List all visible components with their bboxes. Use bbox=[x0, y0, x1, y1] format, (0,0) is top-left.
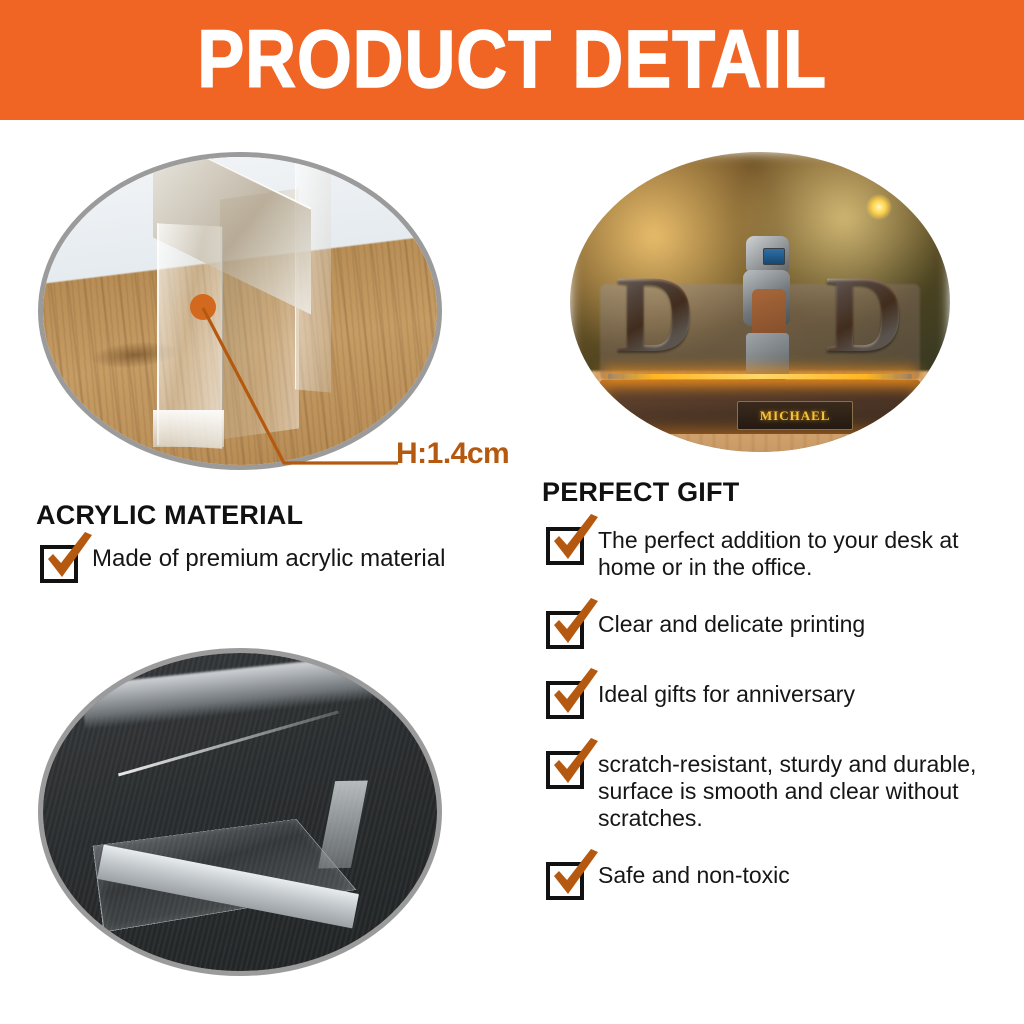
checkbox-checked bbox=[40, 545, 78, 583]
checkmark-icon bbox=[548, 849, 604, 903]
feature-text: Ideal gifts for anniversary bbox=[598, 681, 855, 708]
checkmark-icon bbox=[548, 514, 604, 568]
feature-text: The perfect addition to your desk at hom… bbox=[598, 527, 1006, 581]
photo-acrylic-block-on-slate bbox=[38, 648, 442, 976]
checkmark-icon bbox=[548, 738, 604, 792]
checkbox-checked bbox=[546, 751, 584, 789]
letter-d-right: D bbox=[825, 266, 904, 362]
acrylic-bottom-edge bbox=[153, 410, 224, 447]
feature-item-scratch-resistant: scratch-resistant, sturdy and durable, s… bbox=[546, 751, 1006, 832]
feature-text: scratch-resistant, sturdy and durable, s… bbox=[598, 751, 1006, 832]
checkbox-checked bbox=[546, 862, 584, 900]
product-detail-page: PRODUCT DETAIL H:1.4cm D D bbox=[0, 0, 1024, 1024]
feature-item-desk-addition: The perfect addition to your desk at hom… bbox=[546, 527, 1006, 581]
feature-item-clear-printing: Clear and delicate printing bbox=[546, 611, 1006, 649]
nameplate-text: MICHAEL bbox=[760, 408, 831, 424]
section-heading-perfect-gift: PERFECT GIFT bbox=[542, 477, 739, 508]
thickness-callout-label: H:1.4cm bbox=[396, 437, 509, 471]
photo-acrylic-block-edge bbox=[38, 152, 442, 470]
feature-text: Clear and delicate printing bbox=[598, 611, 865, 638]
welder-figure bbox=[730, 236, 806, 392]
checkmark-icon bbox=[42, 532, 98, 586]
checkbox-checked bbox=[546, 681, 584, 719]
feature-item-anniversary-gift: Ideal gifts for anniversary bbox=[546, 681, 1006, 719]
feature-item-safe-non-toxic: Safe and non-toxic bbox=[546, 862, 1006, 900]
perfect-gift-feature-list: The perfect addition to your desk at hom… bbox=[546, 527, 1006, 900]
letter-d-left: D bbox=[616, 266, 695, 362]
checkbox-checked bbox=[546, 527, 584, 565]
feature-text: Safe and non-toxic bbox=[598, 862, 790, 889]
nameplate: MICHAEL bbox=[737, 401, 853, 430]
welding-spark-icon bbox=[866, 194, 892, 220]
welder-legs bbox=[746, 333, 789, 380]
checkmark-icon bbox=[548, 598, 604, 652]
section-heading-acrylic-material: ACRYLIC MATERIAL bbox=[36, 500, 303, 531]
header-banner: PRODUCT DETAIL bbox=[0, 0, 1024, 120]
helmet-visor bbox=[763, 248, 785, 264]
checkmark-icon bbox=[548, 668, 604, 722]
checkbox-checked bbox=[546, 611, 584, 649]
callout-dot-icon bbox=[190, 294, 216, 320]
page-title: PRODUCT DETAIL bbox=[197, 19, 827, 101]
molten-glow-line bbox=[608, 374, 912, 379]
feature-item-acrylic: Made of premium acrylic material bbox=[40, 545, 445, 583]
photo-dad-welder-plaque: D D MICHAEL bbox=[570, 152, 950, 452]
feature-text: Made of premium acrylic material bbox=[92, 545, 445, 572]
